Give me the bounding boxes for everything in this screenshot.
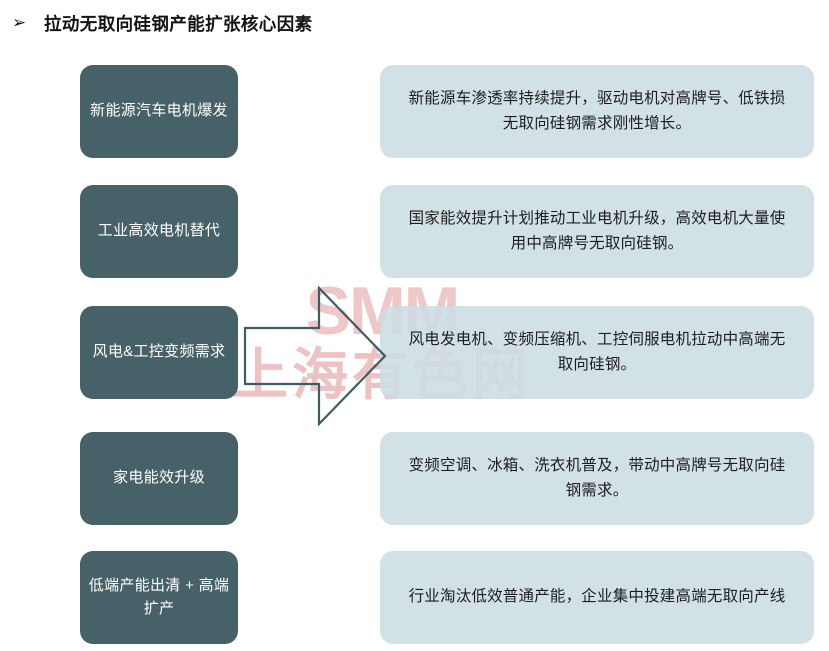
detail-text-4: 变频空调、冰箱、洗衣机普及，带动中高牌号无取向硅钢需求。: [404, 454, 790, 503]
factor-box-1[interactable]: 新能源汽车电机爆发: [80, 65, 238, 158]
factor-label-5: 低端产能出清 + 高端扩产: [88, 575, 230, 621]
factor-box-3[interactable]: 风电&工控变频需求: [80, 306, 238, 399]
factor-label-1: 新能源汽车电机爆发: [90, 100, 228, 123]
bullet-arrow-icon: ➢: [8, 15, 30, 32]
detail-box-2[interactable]: 国家能效提升计划推动工业电机升级，高效电机大量使用中高牌号无取向硅钢。: [380, 185, 814, 278]
detail-box-3[interactable]: 风电发电机、变频压缩机、工控伺服电机拉动中高端无取向硅钢。: [380, 306, 814, 399]
factor-box-2[interactable]: 工业高效电机替代: [80, 185, 238, 278]
page-title: 拉动无取向硅钢产能扩张核心因素: [44, 11, 313, 36]
factors-diagram: 新能源汽车电机爆发 新能源车渗透率持续提升，驱动电机对高牌号、低铁损无取向硅钢需…: [0, 46, 829, 651]
factor-label-3: 风电&工控变频需求: [93, 341, 226, 364]
page-title-row: ➢ 拉动无取向硅钢产能扩张核心因素: [0, 0, 829, 46]
detail-box-5[interactable]: 行业淘汰低效普通产能，企业集中投建高端无取向产线: [380, 551, 814, 644]
detail-text-5: 行业淘汰低效普通产能，企业集中投建高端无取向产线: [409, 585, 786, 609]
detail-text-2: 国家能效提升计划推动工业电机升级，高效电机大量使用中高牌号无取向硅钢。: [404, 207, 790, 256]
factor-box-5[interactable]: 低端产能出清 + 高端扩产: [80, 551, 238, 644]
detail-text-1: 新能源车渗透率持续提升，驱动电机对高牌号、低铁损无取向硅钢需求刚性增长。: [404, 87, 790, 136]
factor-label-2: 工业高效电机替代: [98, 220, 220, 243]
detail-box-4[interactable]: 变频空调、冰箱、洗衣机普及，带动中高牌号无取向硅钢需求。: [380, 432, 814, 525]
factor-box-4[interactable]: 家电能效升级: [80, 432, 238, 525]
detail-box-1[interactable]: 新能源车渗透率持续提升，驱动电机对高牌号、低铁损无取向硅钢需求刚性增长。: [380, 65, 814, 158]
detail-text-3: 风电发电机、变频压缩机、工控伺服电机拉动中高端无取向硅钢。: [404, 328, 790, 377]
factor-label-4: 家电能效升级: [113, 467, 205, 490]
